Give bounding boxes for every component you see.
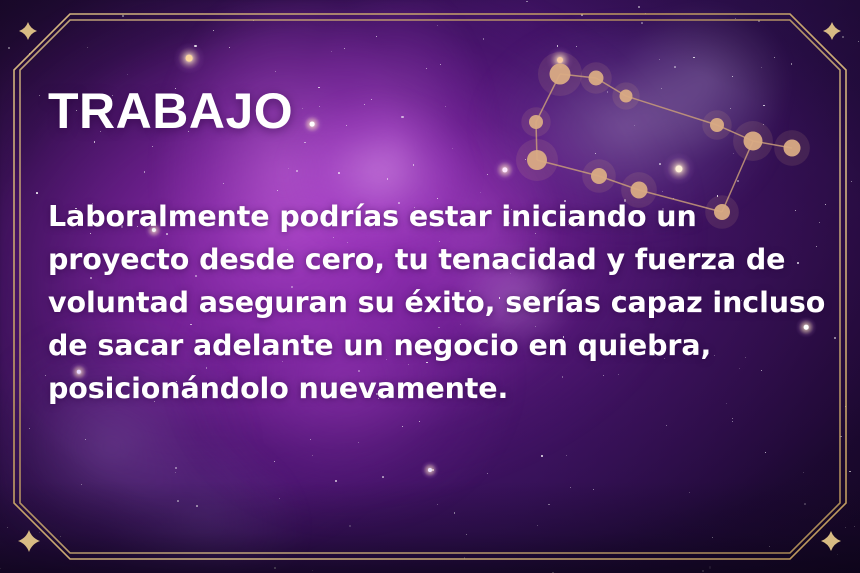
sparkle-icon bbox=[823, 22, 841, 40]
bright-star-core bbox=[428, 468, 432, 472]
star bbox=[175, 472, 176, 473]
star bbox=[851, 181, 852, 182]
star bbox=[758, 20, 760, 22]
star bbox=[39, 95, 40, 96]
star bbox=[849, 471, 851, 473]
star bbox=[576, 46, 577, 47]
star bbox=[487, 473, 488, 474]
star bbox=[426, 68, 427, 69]
star bbox=[845, 527, 846, 528]
sparkle-icon bbox=[19, 22, 37, 40]
bright-star-glow bbox=[421, 461, 439, 479]
star bbox=[127, 74, 128, 75]
star bbox=[229, 47, 230, 48]
star bbox=[466, 534, 467, 535]
star bbox=[274, 461, 275, 462]
page-title: TRABAJO bbox=[48, 86, 808, 136]
star bbox=[641, 22, 643, 24]
star bbox=[312, 570, 314, 572]
star bbox=[674, 66, 676, 68]
star bbox=[765, 452, 766, 453]
star bbox=[842, 36, 844, 38]
star bbox=[769, 546, 770, 547]
star bbox=[526, 1, 528, 3]
star bbox=[774, 57, 775, 58]
star bbox=[854, 526, 855, 527]
star bbox=[29, 53, 31, 55]
star bbox=[638, 6, 640, 8]
star bbox=[791, 63, 793, 65]
star bbox=[87, 47, 88, 48]
star bbox=[712, 537, 713, 538]
star bbox=[858, 41, 859, 42]
star bbox=[310, 439, 311, 440]
card-content: TRABAJO Laboralmente podrías estar inici… bbox=[48, 86, 808, 410]
star bbox=[732, 421, 733, 422]
star bbox=[761, 67, 762, 68]
star bbox=[837, 554, 838, 555]
star bbox=[803, 472, 804, 473]
star bbox=[331, 51, 332, 52]
star bbox=[419, 421, 420, 422]
star bbox=[253, 20, 254, 21]
star bbox=[666, 425, 667, 426]
star bbox=[593, 489, 594, 490]
constellation-node bbox=[589, 71, 604, 86]
sparkle-icon bbox=[18, 530, 40, 552]
star bbox=[732, 76, 733, 77]
star bbox=[693, 57, 695, 59]
star bbox=[454, 512, 456, 514]
star bbox=[8, 47, 10, 49]
star bbox=[581, 14, 583, 16]
star bbox=[60, 536, 61, 537]
star bbox=[804, 503, 806, 505]
star bbox=[275, 71, 276, 72]
star bbox=[845, 406, 846, 407]
star bbox=[566, 455, 567, 456]
star bbox=[440, 64, 441, 65]
bright-star-glow bbox=[174, 43, 205, 74]
bright-star-core bbox=[557, 57, 563, 63]
star bbox=[709, 566, 711, 568]
star bbox=[194, 45, 196, 47]
constellation-node bbox=[550, 64, 571, 85]
star bbox=[122, 15, 124, 17]
star bbox=[29, 428, 30, 429]
star bbox=[335, 480, 337, 482]
star bbox=[537, 525, 538, 526]
star bbox=[840, 436, 842, 438]
star bbox=[358, 442, 359, 443]
star bbox=[464, 557, 466, 559]
star bbox=[175, 467, 177, 469]
star bbox=[81, 484, 82, 485]
star bbox=[196, 505, 198, 507]
star bbox=[279, 498, 280, 499]
bright-star-glow bbox=[547, 47, 574, 74]
star bbox=[213, 30, 214, 31]
star bbox=[349, 525, 351, 527]
star bbox=[702, 570, 704, 572]
star bbox=[689, 492, 690, 493]
star bbox=[483, 38, 485, 40]
star bbox=[45, 375, 46, 376]
star bbox=[732, 418, 733, 419]
star bbox=[541, 455, 543, 457]
star bbox=[735, 18, 736, 19]
sparkle-icon bbox=[821, 531, 841, 551]
star bbox=[344, 48, 345, 49]
star bbox=[177, 500, 179, 502]
star bbox=[437, 25, 438, 26]
star bbox=[7, 527, 8, 528]
star bbox=[559, 66, 561, 68]
star bbox=[39, 532, 40, 533]
star bbox=[548, 504, 550, 506]
star bbox=[312, 455, 314, 457]
horoscope-card: TRABAJO Laboralmente podrías estar inici… bbox=[0, 0, 860, 573]
star bbox=[557, 45, 559, 47]
star bbox=[432, 469, 434, 471]
bright-star-core bbox=[186, 55, 193, 62]
star bbox=[36, 192, 38, 194]
star bbox=[402, 426, 403, 427]
star bbox=[437, 504, 438, 505]
star bbox=[376, 36, 377, 37]
star bbox=[274, 567, 276, 569]
star bbox=[645, 13, 646, 14]
star bbox=[659, 59, 660, 60]
star bbox=[382, 476, 384, 478]
star bbox=[0, 568, 1, 569]
body-paragraph: Laboralmente podrías estar iniciando un … bbox=[48, 136, 838, 410]
star bbox=[570, 487, 572, 489]
star bbox=[85, 439, 86, 440]
